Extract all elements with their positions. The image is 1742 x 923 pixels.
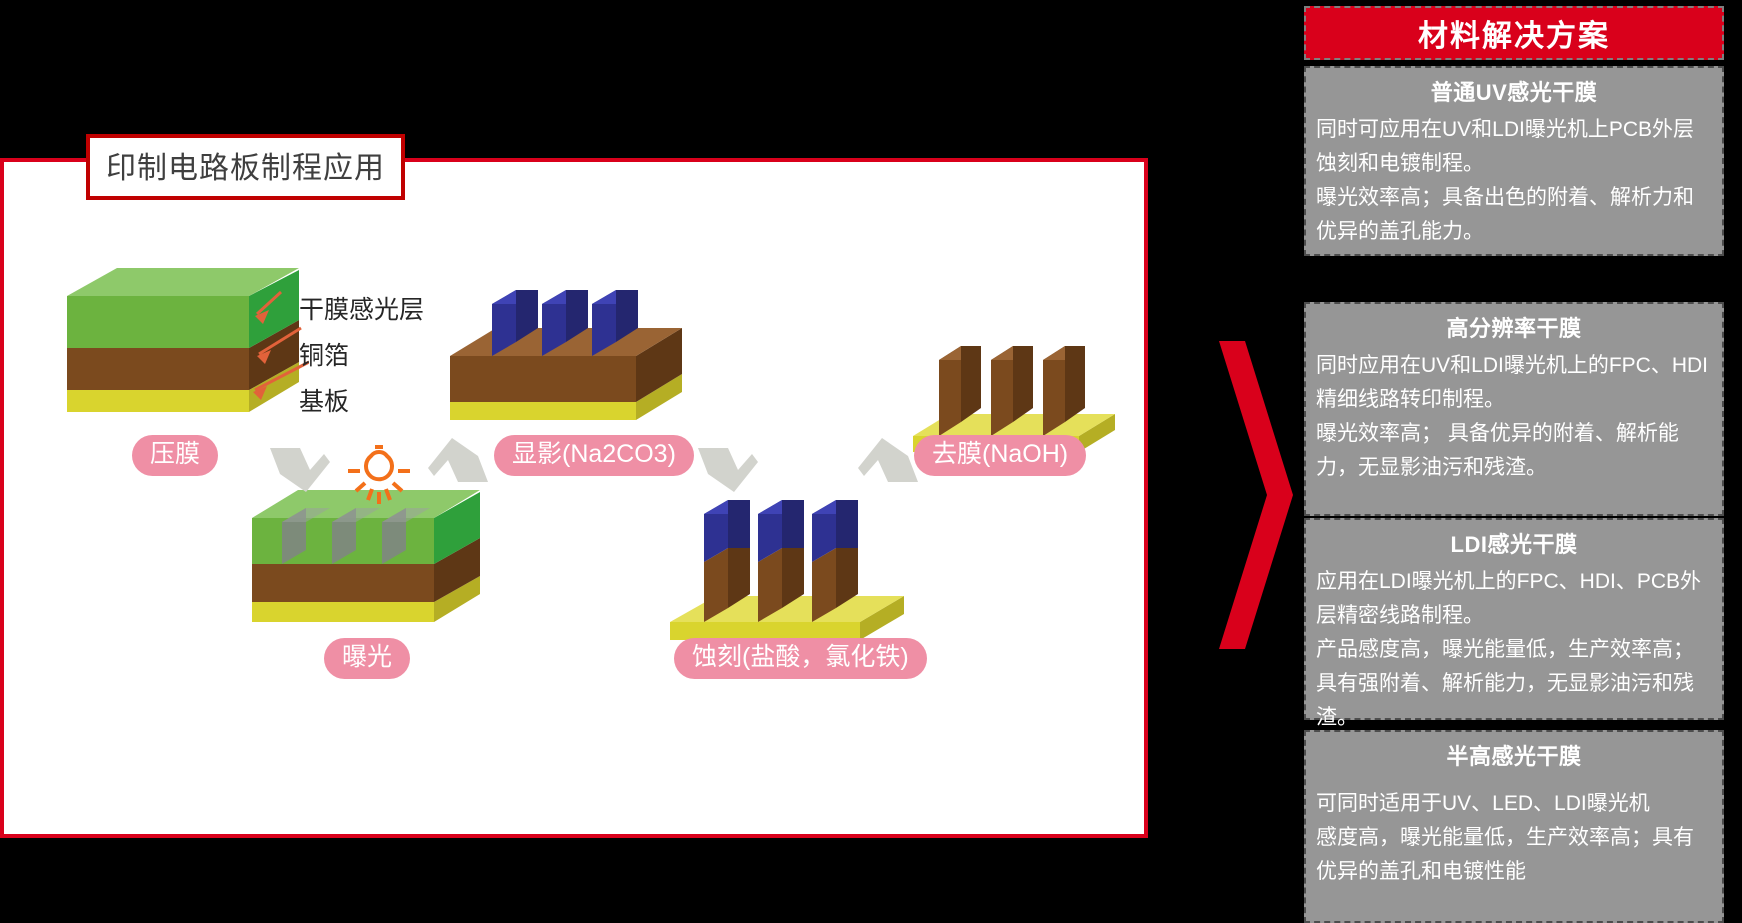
callout-copper-foil: 铜箔 <box>299 336 349 372</box>
solution-card-title: LDI感光干膜 <box>1316 528 1712 561</box>
solution-card-title: 高分辨率干膜 <box>1316 312 1712 345</box>
lightbulb-icon <box>342 434 416 508</box>
solution-card-line: 曝光效率高； 具备优异的附着、解析能力，无显影油污和残渣。 <box>1316 417 1712 485</box>
chevron-arrow-icon-3 <box>694 440 764 500</box>
chevron-arrow-icon-4 <box>852 430 922 490</box>
stack-developing-illustration <box>444 270 694 430</box>
callout-dry-film-layer: 干膜感光层 <box>299 290 424 326</box>
solution-card-half-height[interactable]: 半高感光干膜 可同时适用于UV、LED、LDI曝光机 感度高，曝光能量低，生产效… <box>1304 730 1724 923</box>
chevron-arrow-icon-2 <box>422 430 492 490</box>
chevron-arrow-icon-1 <box>266 440 336 500</box>
solution-card-line: 感度高，曝光能量低，生产效率高；具有优异的盖孔和电镀性能 <box>1316 821 1712 889</box>
solution-card-body: 应用在LDI曝光机上的FPC、HDI、PCB外层精密线路制程。 产品感度高，曝光… <box>1316 565 1712 735</box>
step-pill-exposure: 曝光 <box>324 638 410 679</box>
solution-card-title: 普通UV感光干膜 <box>1316 76 1712 109</box>
solution-card-line: 可同时适用于UV、LED、LDI曝光机 <box>1316 787 1712 821</box>
material-solutions-panel: 材料解决方案 普通UV感光干膜 同时可应用在UV和LDI曝光机上PCB外层蚀刻和… <box>1298 0 1742 923</box>
solution-card-body: 同时可应用在UV和LDI曝光机上PCB外层蚀刻和电镀制程。 曝光效率高；具备出色… <box>1316 113 1712 249</box>
pcb-process-panel: 干膜感光层 铜箔 基板 压膜 曝光 <box>0 158 1148 838</box>
step-pill-etching: 蚀刻(盐酸，氯化铁) <box>674 638 927 679</box>
solution-card-ldi[interactable]: LDI感光干膜 应用在LDI曝光机上的FPC、HDI、PCB外层精密线路制程。 … <box>1304 518 1724 720</box>
solution-card-line: 曝光效率高；具备出色的附着、解析力和优异的盖孔能力。 <box>1316 181 1712 249</box>
solution-card-high-resolution[interactable]: 高分辨率干膜 同时应用在UV和LDI曝光机上的FPC、HDI精细线路转印制程。 … <box>1304 302 1724 516</box>
solution-card-title: 半高感光干膜 <box>1316 740 1712 773</box>
solution-card-line: 同时应用在UV和LDI曝光机上的FPC、HDI精细线路转印制程。 <box>1316 349 1712 417</box>
material-solutions-header: 材料解决方案 <box>1304 6 1724 60</box>
step-pill-developing: 显影(Na2CO3) <box>494 435 694 476</box>
stack-etching-illustration <box>664 500 914 650</box>
step-pill-lamination: 压膜 <box>132 435 218 476</box>
stack-lamination-illustration <box>59 262 309 422</box>
solution-card-body: 同时应用在UV和LDI曝光机上的FPC、HDI精细线路转印制程。 曝光效率高； … <box>1316 349 1712 485</box>
solution-card-body: 可同时适用于UV、LED、LDI曝光机 感度高，曝光能量低，生产效率高；具有优异… <box>1316 787 1712 889</box>
page-title: 印制电路板制程应用 <box>86 134 405 200</box>
solution-card-line: 应用在LDI曝光机上的FPC、HDI、PCB外层精密线路制程。 <box>1316 565 1712 633</box>
callout-substrate: 基板 <box>299 382 349 418</box>
solution-card-line: 产品感度高，曝光能量低，生产效率高；具有强附着、解析能力，无显影油污和残渣。 <box>1316 633 1712 735</box>
solution-card-uv[interactable]: 普通UV感光干膜 同时可应用在UV和LDI曝光机上PCB外层蚀刻和电镀制程。 曝… <box>1304 66 1724 256</box>
solution-card-line: 同时可应用在UV和LDI曝光机上PCB外层蚀刻和电镀制程。 <box>1316 113 1712 181</box>
step-pill-stripping: 去膜(NaOH) <box>914 435 1086 476</box>
